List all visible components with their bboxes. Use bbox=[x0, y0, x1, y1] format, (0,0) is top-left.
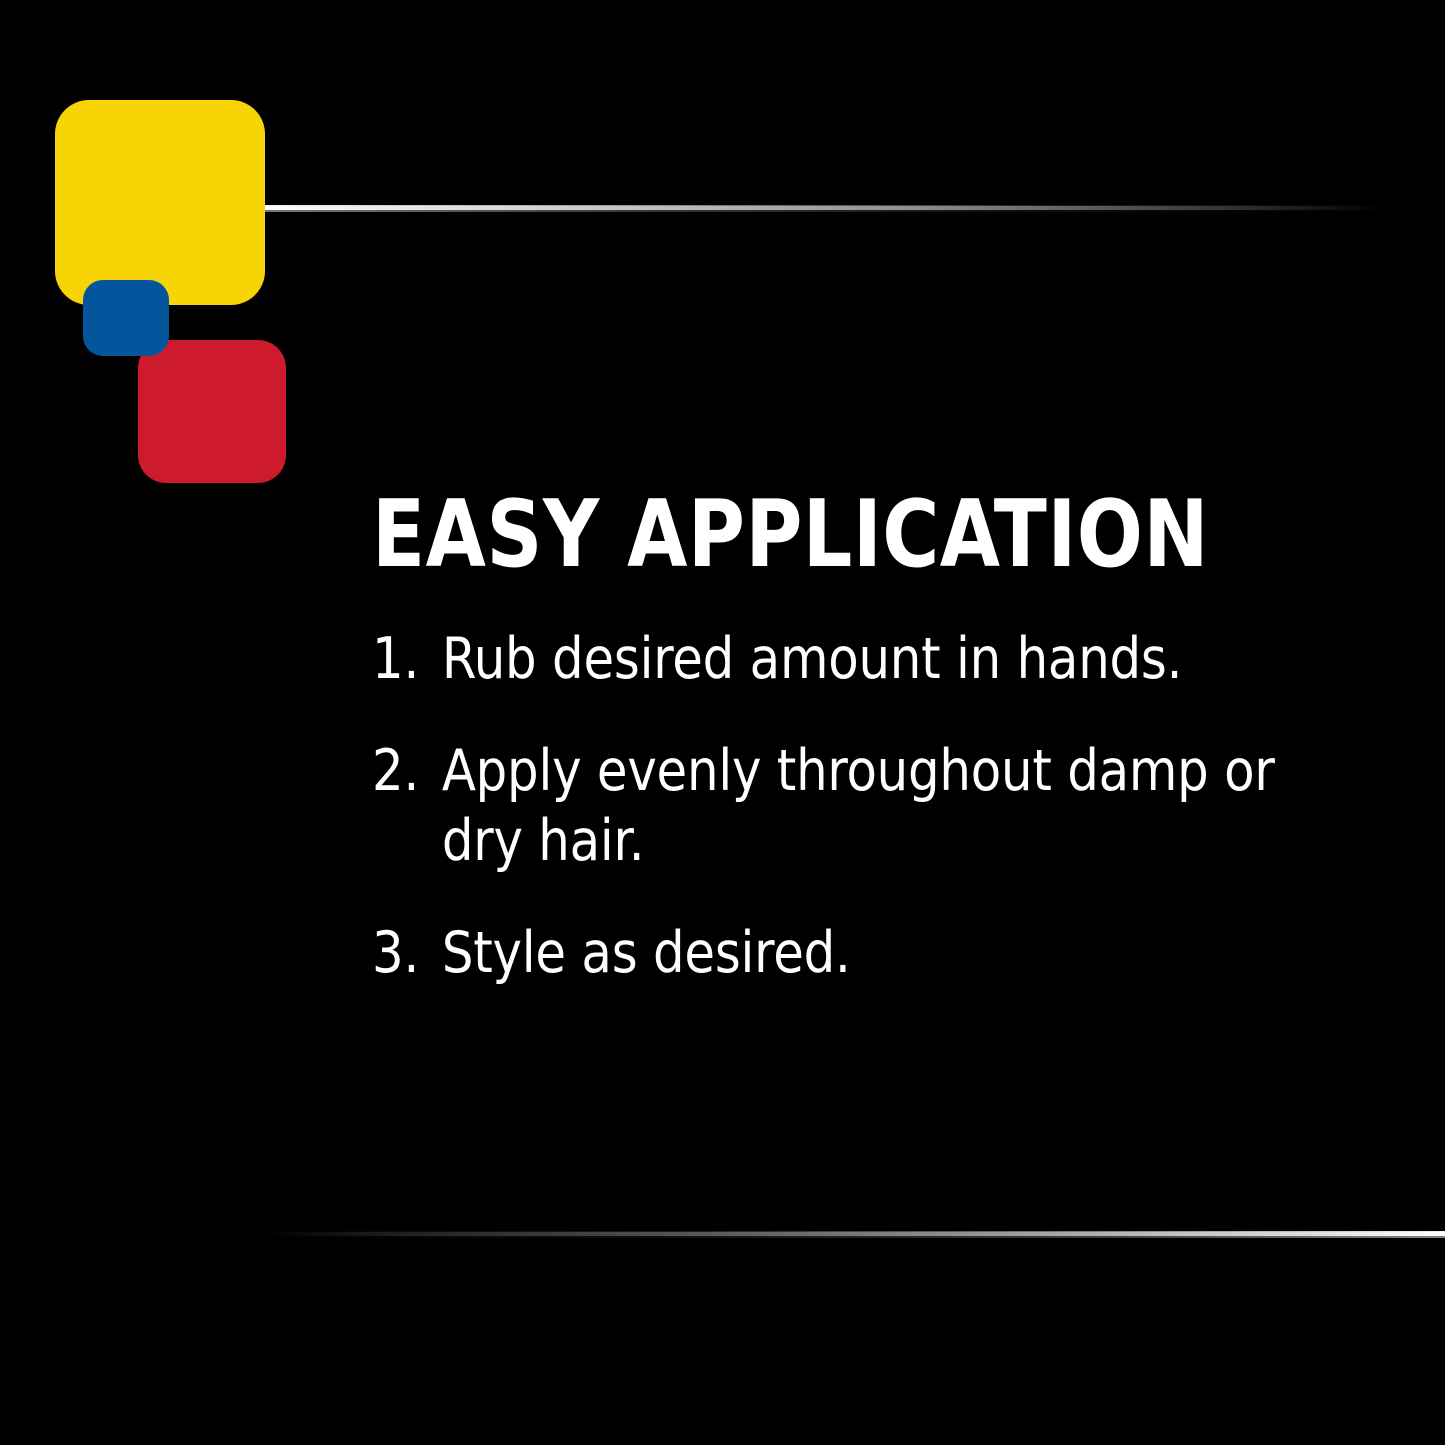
promo-card: EASY APPLICATION 1. Rub desired amount i… bbox=[0, 0, 1445, 1445]
list-item: 2. Apply evenly throughout damp or dry h… bbox=[372, 736, 1323, 876]
step-number: 3. bbox=[372, 918, 442, 988]
page-title: EASY APPLICATION bbox=[372, 486, 1209, 582]
logo-red-square-icon bbox=[138, 340, 286, 483]
step-text: Style as desired. bbox=[442, 918, 1323, 988]
logo-blue-square-icon bbox=[83, 280, 169, 356]
logo-yellow-square-icon bbox=[55, 100, 265, 305]
top-rule-shadow bbox=[262, 210, 1382, 212]
step-number: 1. bbox=[372, 624, 442, 694]
instruction-steps-list: 1. Rub desired amount in hands. 2. Apply… bbox=[372, 624, 1352, 988]
list-item: 1. Rub desired amount in hands. bbox=[372, 624, 1323, 694]
step-text: Rub desired amount in hands. bbox=[442, 624, 1323, 694]
top-metallic-rule bbox=[262, 205, 1382, 212]
bottom-rule-shadow bbox=[262, 1236, 1445, 1238]
list-item: 3. Style as desired. bbox=[372, 918, 1323, 988]
step-text: Apply evenly throughout damp or dry hair… bbox=[442, 736, 1323, 876]
bottom-metallic-rule bbox=[262, 1231, 1445, 1238]
step-number: 2. bbox=[372, 736, 442, 806]
